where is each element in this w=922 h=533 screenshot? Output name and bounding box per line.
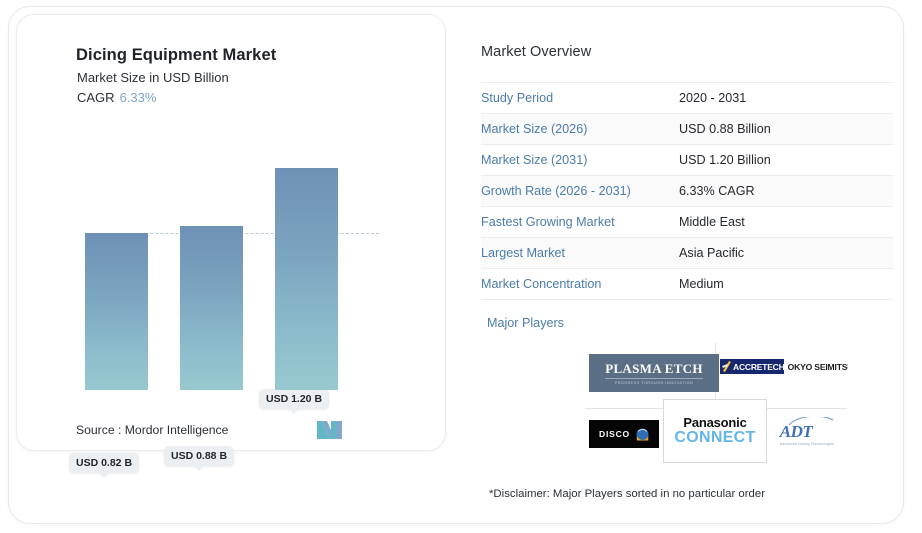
table-row: Market Size (2031) USD 1.20 Billion	[481, 145, 893, 176]
source-row: Source : Mordor Intelligence	[76, 420, 366, 444]
chart-cagr: CAGR6.33%	[77, 90, 156, 105]
overview-table: Study Period 2020 - 2031 Market Size (20…	[481, 82, 893, 300]
chart-title: Dicing Equipment Market	[76, 46, 276, 65]
row-label-market-size-2031: Market Size (2031)	[481, 145, 679, 176]
disco-logo[interactable]: DISCO	[589, 420, 659, 448]
table-row: Market Concentration Medium	[481, 269, 893, 300]
major-players-label: Major Players	[481, 316, 893, 330]
overview-heading: Market Overview	[481, 44, 893, 60]
table-row: Study Period 2020 - 2031	[481, 83, 893, 114]
adt-swoosh-icon	[788, 417, 834, 426]
table-row: Fastest Growing Market Middle East	[481, 207, 893, 238]
row-value-growth-rate: 6.33% CAGR	[679, 176, 893, 207]
plasma-etch-logo[interactable]: PLASMA ETCH PROGRESS THROUGH INNOVATION	[589, 354, 719, 392]
table-row: Largest Market Asia Pacific	[481, 238, 893, 269]
bar-2031[interactable]	[275, 168, 338, 390]
disclaimer-text: *Disclaimer: Major Players sorted in no …	[489, 488, 765, 500]
mordor-intelligence-logo	[317, 420, 343, 445]
bar-2025[interactable]	[85, 233, 148, 390]
adt-logo[interactable]: ADT Advanced Dicing Technologies	[771, 417, 843, 451]
tokyo-seimitsu-logo[interactable]: TOKYO SEIMITSU	[788, 359, 848, 375]
row-label-growth-rate: Growth Rate (2026 - 2031)	[481, 176, 679, 207]
row-value-market-size-2031: USD 1.20 Billion	[679, 145, 893, 176]
row-value-market-concentration: Medium	[679, 269, 893, 300]
accretech-spark-icon	[722, 361, 732, 372]
table-row: Growth Rate (2026 - 2031) 6.33% CAGR	[481, 176, 893, 207]
chart-cagr-value: 6.33%	[120, 90, 157, 105]
chart-subtitle: Market Size in USD Billion	[77, 70, 229, 85]
major-players-logo-grid: PLASMA ETCH PROGRESS THROUGH INNOVATION …	[585, 347, 847, 465]
disco-globe-icon	[636, 428, 649, 441]
row-value-largest-market: Asia Pacific	[679, 238, 893, 269]
row-label-largest-market: Largest Market	[481, 238, 679, 269]
accretech-logo[interactable]: ACCRETECH	[720, 359, 784, 374]
bar-value-tooltip-2025: USD 0.82 B	[69, 453, 139, 473]
panasonic-text: Panasonic	[683, 415, 746, 430]
disco-text: DISCO	[599, 429, 630, 439]
row-label-fastest-growing-market: Fastest Growing Market	[481, 207, 679, 238]
bar-value-tooltip-2026: USD 0.88 B	[164, 446, 234, 466]
row-value-fastest-growing-market: Middle East	[679, 207, 893, 238]
bar-chart-plot: USD 0.82 B 2025 USD 0.88 B 2026 USD 1.20…	[76, 120, 376, 390]
row-value-study-period: 2020 - 2031	[679, 83, 893, 114]
plasma-etch-text: PLASMA ETCH	[605, 362, 703, 375]
market-snapshot-card: Dicing Equipment Market Market Size in U…	[0, 0, 922, 533]
source-label: Source : Mordor Intelligence	[76, 423, 228, 437]
market-overview-panel: Market Overview Study Period 2020 - 2031…	[481, 44, 893, 330]
plasma-etch-tagline: PROGRESS THROUGH INNOVATION	[605, 378, 703, 385]
table-row: Market Size (2026) USD 0.88 Billion	[481, 114, 893, 145]
bar-2026[interactable]	[180, 226, 243, 390]
panasonic-connect-logo[interactable]: Panasonic CONNECT	[663, 399, 767, 463]
row-label-study-period: Study Period	[481, 83, 679, 114]
connect-text: CONNECT	[674, 430, 755, 447]
adt-tagline: Advanced Dicing Technologies	[780, 442, 835, 446]
row-value-market-size-2026: USD 0.88 Billion	[679, 114, 893, 145]
tokyo-seimitsu-text: TOKYO SEIMITSU	[788, 362, 848, 372]
accretech-text: ACCRETECH	[733, 362, 784, 372]
chart-cagr-label: CAGR	[77, 90, 115, 105]
row-label-market-size-2026: Market Size (2026)	[481, 114, 679, 145]
bar-value-tooltip-2031: USD 1.20 B	[259, 389, 329, 409]
row-label-market-concentration: Market Concentration	[481, 269, 679, 300]
